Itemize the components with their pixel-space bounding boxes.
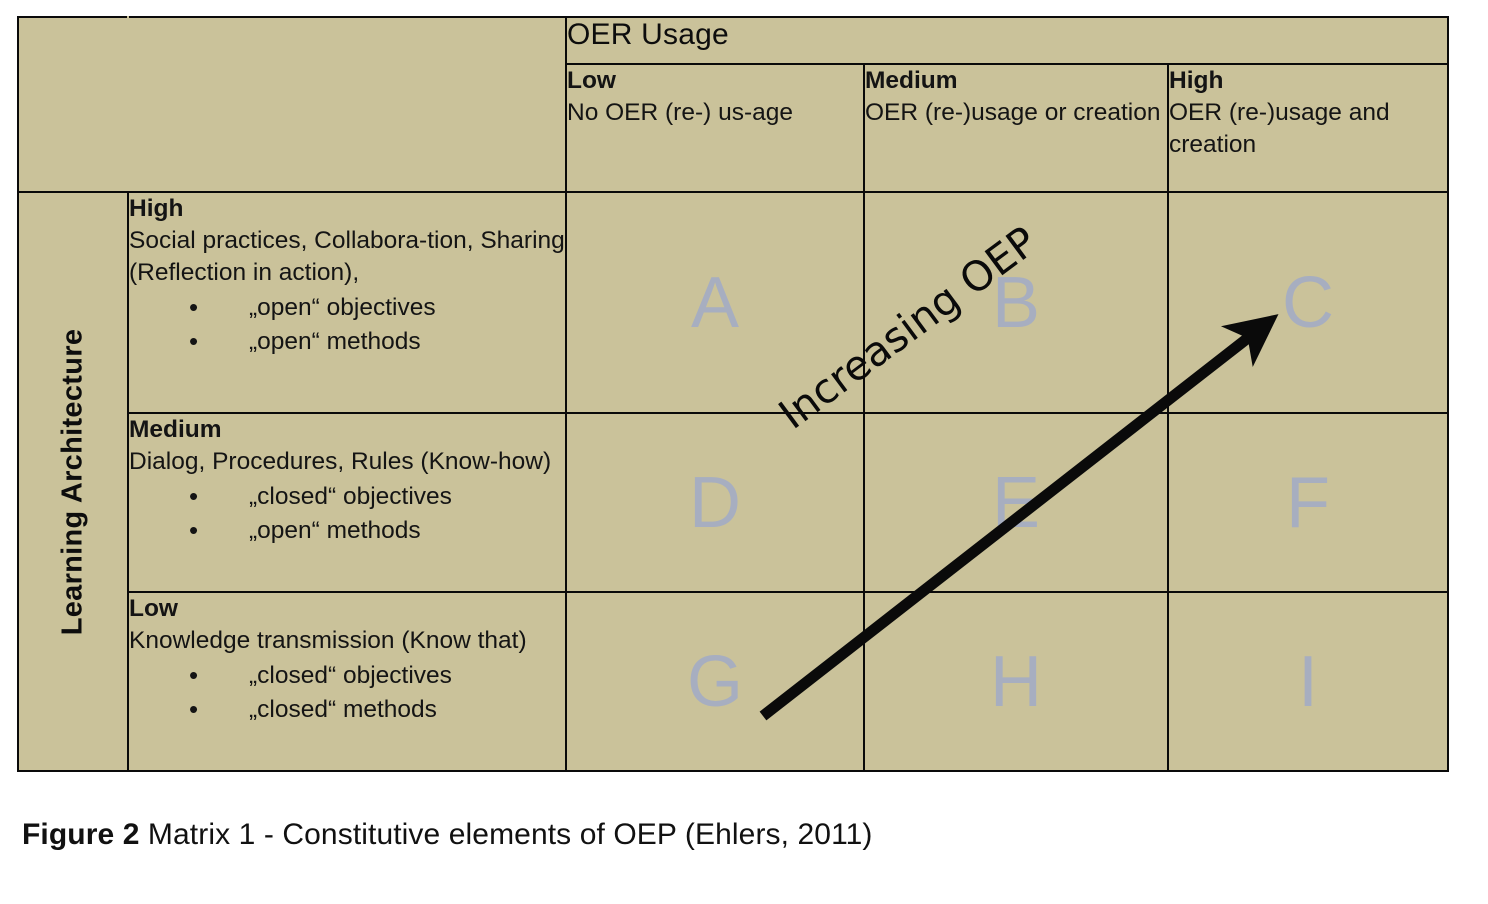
quadrant-cell-f: F: [1168, 413, 1448, 592]
quadrant-cell-h: H: [864, 592, 1168, 771]
row-header-low-bullets: „closed“ objectives „closed“ methods: [129, 659, 565, 728]
row-header-medium: Medium Dialog, Procedures, Rules (Know-h…: [128, 413, 566, 592]
quadrant-cell-e: E: [864, 413, 1168, 592]
matrix-row-low: Low Knowledge transmission (Know that) „…: [18, 592, 1448, 771]
figure-caption: Figure 2 Matrix 1 - Constitutive element…: [22, 818, 873, 852]
matrix-row-high: Learning Architecture High Social practi…: [18, 192, 1448, 413]
row-header-high-bullets: „open“ objectives „open“ methods: [129, 291, 565, 360]
list-item: „closed“ objectives: [129, 659, 565, 693]
quadrant-letter-a: A: [691, 262, 739, 344]
row-header-low-title: Low: [129, 593, 565, 625]
matrix-row-medium: Medium Dialog, Procedures, Rules (Know-h…: [18, 413, 1448, 592]
oep-matrix-figure: OER Usage Low No OER (re-) us-age Medium…: [17, 16, 1447, 772]
row-axis-title-cell: Learning Architecture: [18, 192, 128, 771]
figure-caption-label: Figure 2: [22, 818, 140, 851]
row-header-low: Low Knowledge transmission (Know that) „…: [128, 592, 566, 771]
oep-matrix-table: OER Usage Low No OER (re-) us-age Medium…: [17, 16, 1449, 772]
quadrant-cell-c: C: [1168, 192, 1448, 413]
corner-spacer-right: [128, 17, 566, 192]
row-header-medium-desc: Dialog, Procedures, Rules (Know-how): [129, 446, 565, 478]
list-item: „closed“ objectives: [129, 480, 565, 514]
quadrant-cell-i: I: [1168, 592, 1448, 771]
column-header-low-title: Low: [567, 65, 863, 97]
column-header-low-desc: No OER (re-) us-age: [567, 97, 863, 129]
list-item: „closed“ methods: [129, 693, 565, 727]
quadrant-letter-d: D: [689, 462, 741, 544]
quadrant-letter-e: E: [992, 462, 1040, 544]
quadrant-letter-h: H: [990, 641, 1042, 723]
quadrant-cell-g: G: [566, 592, 864, 771]
column-header-medium-desc: OER (re-)usage or creation: [865, 97, 1167, 129]
quadrant-letter-c: C: [1282, 262, 1334, 344]
column-header-high-title: High: [1169, 65, 1447, 97]
column-axis-title: OER Usage: [566, 17, 1448, 64]
column-header-high: High OER (re-)usage and creation: [1168, 64, 1448, 192]
quadrant-letter-g: G: [687, 641, 743, 723]
row-header-medium-bullets: „closed“ objectives „open“ methods: [129, 480, 565, 549]
row-header-high: High Social practices, Collabora-tion, S…: [128, 192, 566, 413]
corner-spacer-left: [18, 17, 128, 192]
list-item: „open“ methods: [129, 325, 565, 359]
row-header-high-desc: Social practices, Collabora-tion, Sharin…: [129, 225, 565, 289]
row-header-low-desc: Knowledge transmission (Know that): [129, 625, 565, 657]
figure-caption-text: Matrix 1 - Constitutive elements of OEP …: [140, 818, 873, 851]
quadrant-letter-f: F: [1286, 462, 1330, 544]
list-item: „open“ methods: [129, 514, 565, 548]
column-header-high-desc: OER (re-)usage and creation: [1169, 97, 1447, 161]
column-header-medium: Medium OER (re-)usage or creation: [864, 64, 1168, 192]
row-axis-title: Learning Architecture: [57, 328, 90, 635]
matrix-header-band-row: OER Usage: [18, 17, 1448, 64]
row-header-medium-title: Medium: [129, 414, 565, 446]
quadrant-letter-i: I: [1298, 641, 1318, 723]
column-header-medium-title: Medium: [865, 65, 1167, 97]
quadrant-cell-d: D: [566, 413, 864, 592]
list-item: „open“ objectives: [129, 291, 565, 325]
row-header-high-title: High: [129, 193, 565, 225]
column-header-low: Low No OER (re-) us-age: [566, 64, 864, 192]
